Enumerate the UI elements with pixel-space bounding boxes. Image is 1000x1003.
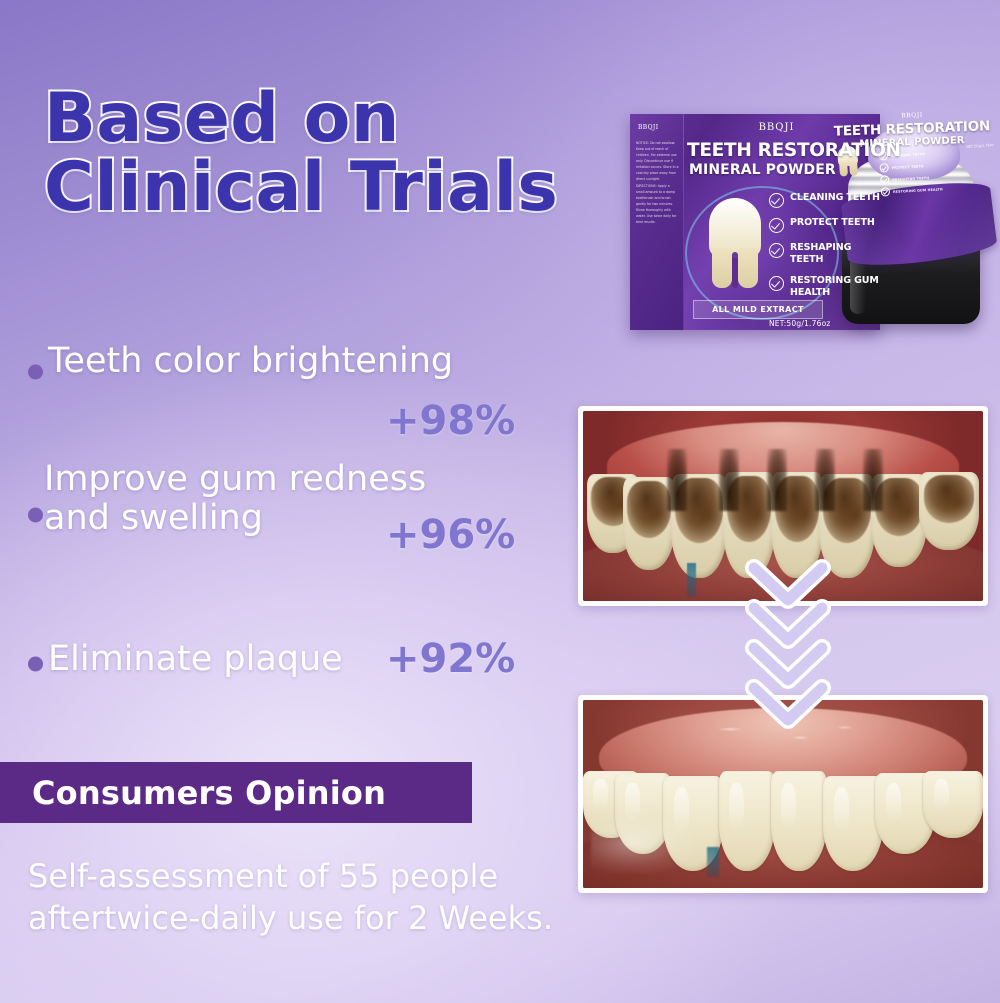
benefit-label-line-2: and swelling (44, 499, 426, 538)
box-title: TEETH RESTORATION (687, 140, 880, 161)
product-box-front: BBQJI TEETH RESTORATION MINERAL POWDER C… (683, 114, 880, 330)
box-side-brand: BBQJI (638, 124, 659, 131)
footnote-line-1: Self-assessment of 55 people (28, 855, 588, 897)
jar-feature-item: PROTECT TEETH (879, 160, 941, 172)
benefit-label: Eliminate plaque (48, 640, 343, 679)
box-brand: BBQJI (683, 122, 870, 133)
box-feature-label: PROTECT TEETH (790, 217, 875, 229)
box-feature-label: RESHAPING TEETH (790, 242, 881, 266)
bullet-dot-icon (28, 508, 43, 523)
box-net-weight: NET:50g/1.76oz (769, 319, 831, 328)
tooth-illustration-icon (709, 198, 761, 288)
check-circle-icon (880, 175, 889, 184)
promo-infographic: Based on Clinical Trials BBQJI NOTICE: D… (0, 0, 1000, 1003)
box-badge: ALL MILD EXTRACT (693, 300, 823, 319)
box-subtitle: MINERAL POWDER (689, 162, 880, 178)
transition-arrows (742, 556, 834, 746)
jar-feature-item: RESTORING GUM HEALTH (881, 184, 943, 196)
benefit-percent: +98% (386, 398, 515, 444)
benefit-item-3: Eliminate plaque +92% (14, 636, 554, 692)
box-feature-item: RESTORING GUM HEALTH (769, 275, 881, 299)
box-feature-item: RESHAPING TEETH (769, 242, 881, 266)
product-box-side-panel: BBQJI NOTICE: Do not swallow. Keep out o… (630, 114, 684, 330)
check-circle-icon (769, 218, 784, 233)
benefit-item-2: Improve gum redness and swelling +96% (14, 460, 554, 570)
benefit-label-stack: Improve gum redness and swelling (44, 460, 426, 538)
check-circle-icon (879, 163, 888, 172)
bullet-dot-icon (28, 365, 43, 380)
jar-net-weight: NET:50g/1.76oz (966, 143, 994, 149)
check-circle-icon (769, 193, 784, 208)
page-title: Based on Clinical Trials (44, 86, 664, 221)
study-footnote: Self-assessment of 55 people aftertwice-… (28, 855, 588, 939)
benefit-percent: +92% (386, 636, 515, 682)
jar-feature-label: PROTECT TEETH (892, 164, 924, 170)
benefit-label: Teeth color brightening (48, 342, 453, 381)
chevron-down-icon (742, 676, 834, 738)
product-shot: BBQJI NOTICE: Do not swallow. Keep out o… (628, 104, 1000, 340)
benefit-list: Teeth color brightening +98% Improve gum… (14, 342, 554, 692)
consumers-opinion-label: Consumers Opinion (0, 774, 386, 812)
check-circle-icon (881, 187, 890, 196)
box-feature-item: CLEANING TEETH (769, 192, 881, 208)
box-badge-label: ALL MILD EXTRACT (712, 305, 804, 314)
headline-line-1: Based on (44, 86, 664, 153)
jar-feature-label: RESTORING GUM HEALTH (893, 187, 943, 194)
check-circle-icon (769, 276, 784, 291)
box-side-copy: NOTICE: Do not swallow. Keep out of reac… (636, 140, 679, 225)
headline-line-2: Clinical Trials (44, 155, 664, 222)
jar-feature-label: RESHAPING TEETH (892, 176, 929, 182)
bullet-dot-icon (28, 657, 43, 672)
box-feature-label: CLEANING TEETH (790, 192, 880, 204)
consumers-opinion-banner: Consumers Opinion (0, 762, 472, 823)
box-feature-item: PROTECT TEETH (769, 217, 881, 233)
footnote-line-2: aftertwice-daily use for 2 Weeks. (28, 897, 588, 939)
box-feature-label: RESTORING GUM HEALTH (790, 275, 881, 299)
benefit-percent: +96% (386, 512, 515, 558)
jar-feature-item: RESHAPING TEETH (880, 172, 942, 184)
check-circle-icon (769, 243, 784, 258)
box-feature-list: CLEANING TEETH PROTECT TEETH RESHAPING T… (769, 192, 881, 308)
benefit-label-line-1: Improve gum redness (44, 460, 426, 499)
benefit-item-1: Teeth color brightening +98% (14, 342, 554, 402)
